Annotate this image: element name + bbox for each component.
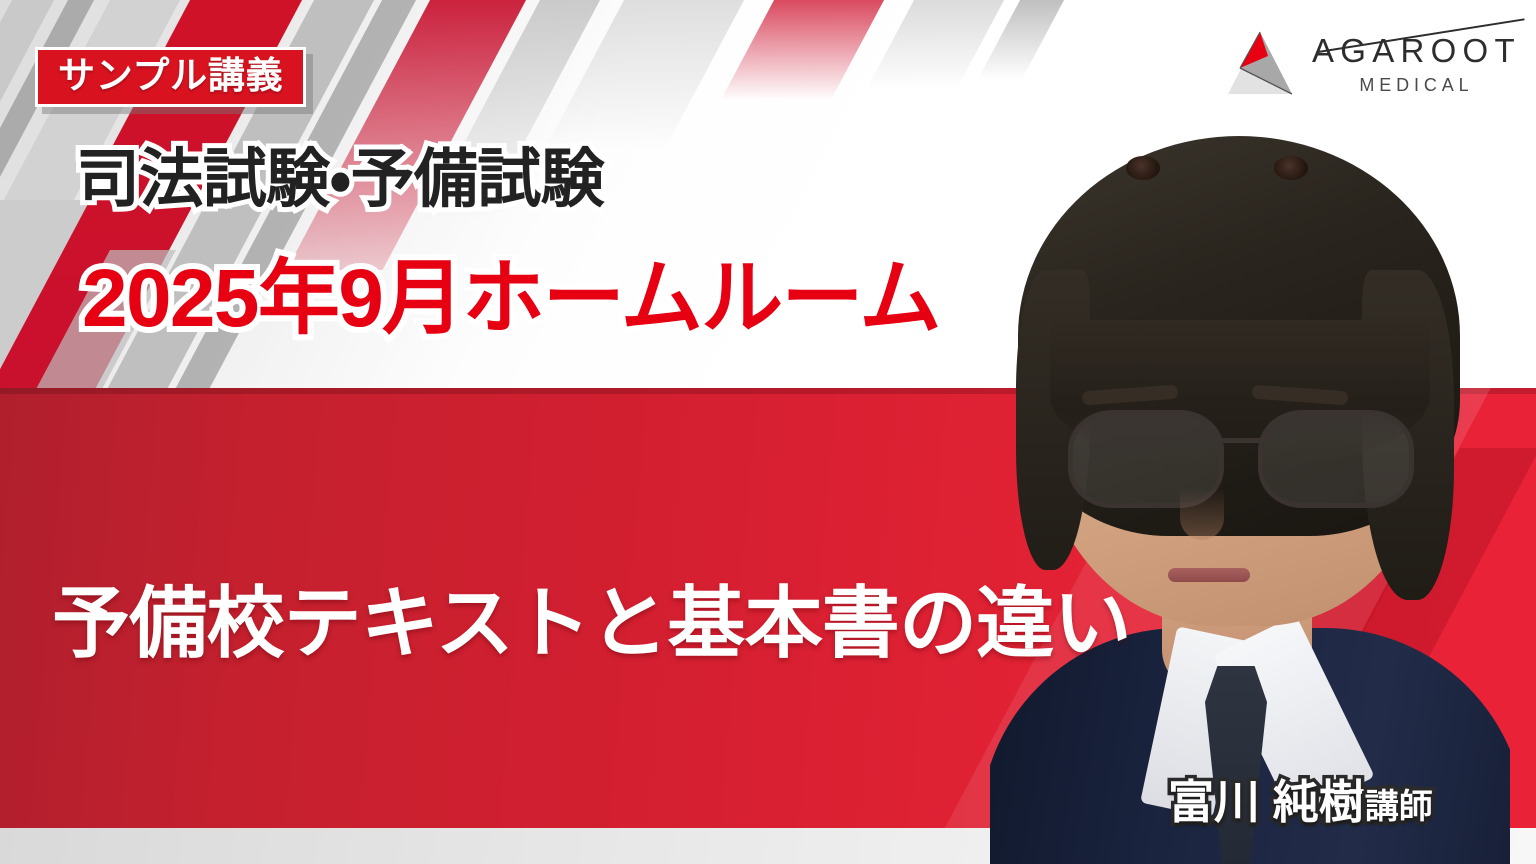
topic-title: 予備校テキストと基本書の違い	[52, 584, 1131, 662]
instructor-name-block: 富川 純樹講師	[1168, 779, 1433, 825]
agaroot-medical-label: MEDICAL	[1359, 76, 1473, 94]
sample-lecture-badge[interactable]: サンプル講義	[35, 47, 306, 107]
agaroot-triangle-icon	[1222, 28, 1298, 100]
instructor-title: 講師	[1365, 788, 1433, 826]
eye-right	[1274, 156, 1308, 180]
mouth	[1168, 568, 1250, 582]
instructor-name: 富川 純樹	[1168, 776, 1365, 828]
agaroot-logo-text: AGAROOT MEDICAL	[1312, 34, 1521, 94]
glasses-bridge	[1214, 438, 1270, 443]
exam-name-heading: 司法試験・予備試験	[76, 147, 604, 211]
agaroot-wordmark-label: AGAROOT	[1312, 32, 1521, 69]
agaroot-wordmark: AGAROOT	[1312, 34, 1521, 67]
instructor-portrait	[990, 120, 1510, 864]
lecture-thumbnail-slide: サンプル講義 司法試験・予備試験 2025年9月ホームルーム AGAROOT M…	[0, 0, 1536, 864]
session-title-heading: 2025年9月ホームルーム	[82, 258, 940, 340]
nose	[1180, 488, 1224, 540]
eye-left	[1126, 156, 1160, 180]
sample-lecture-badge-label: サンプル講義	[58, 55, 283, 96]
glasses-icon	[1068, 410, 1414, 502]
agaroot-logo[interactable]: AGAROOT MEDICAL	[1222, 28, 1521, 100]
glasses-lens-right	[1258, 410, 1414, 508]
